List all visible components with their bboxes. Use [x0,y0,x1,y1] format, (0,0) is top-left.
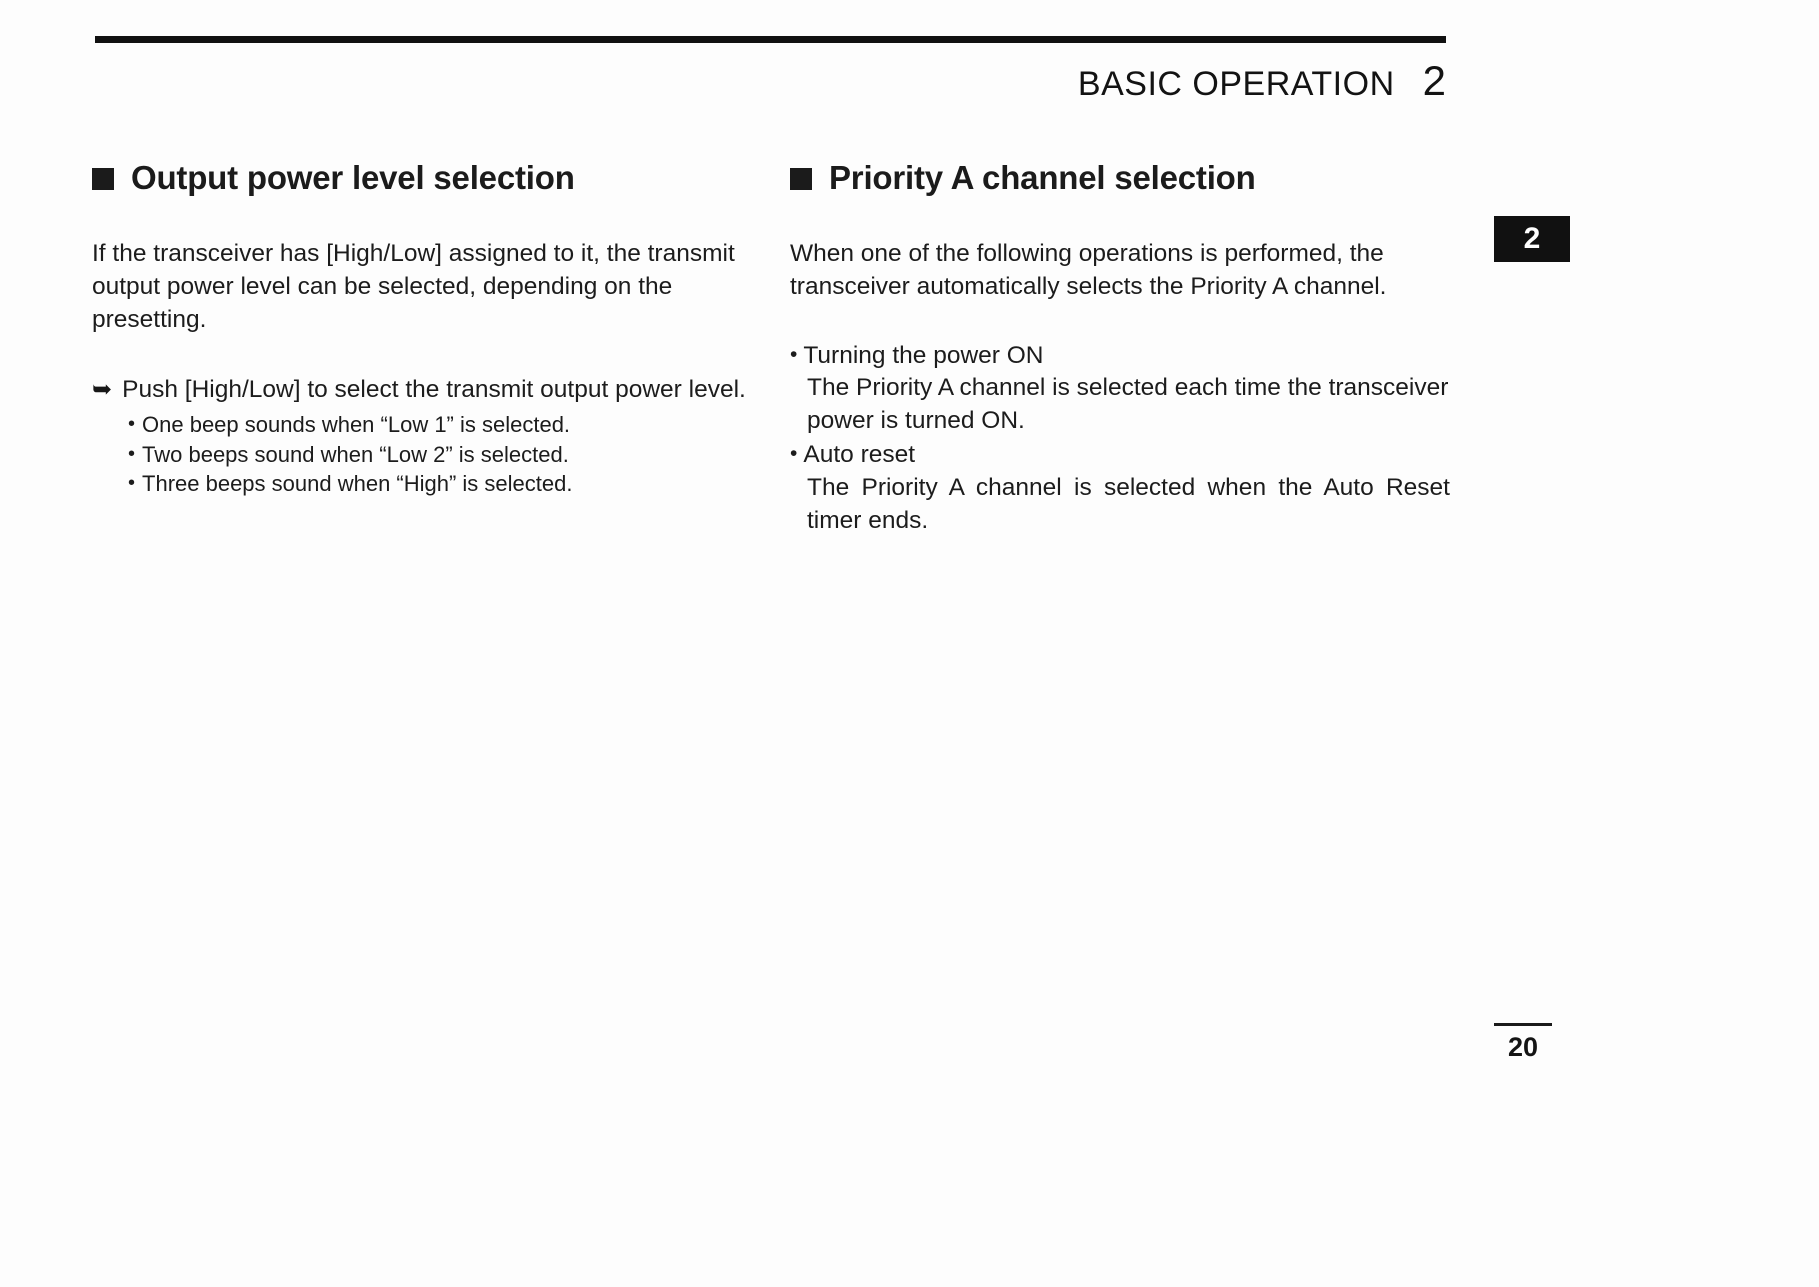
left-sub-bullet-list: • One beep sounds when “Low 1” is select… [92,410,752,498]
left-section-heading-text: Output power level selection [131,160,575,196]
bullet-icon: • [128,440,135,468]
header-chapter-number: 2 [1423,60,1446,102]
list-item: • Auto reset The Priority A channel is s… [790,439,1450,537]
list-item-text: One beep sounds when “Low 1” is selected… [142,410,570,439]
operation-title-row: • Turning the power ON [790,340,1450,373]
page-title: BASIC OPERATION [1078,65,1395,104]
operations-list: • Turning the power ON The Priority A ch… [790,340,1450,537]
bullet-icon: • [128,469,135,497]
left-column: Output power level selection If the tran… [92,160,752,498]
list-item-text: Three beeps sound when “High” is selecte… [142,469,572,498]
operation-description: The Priority A channel is selected when … [807,472,1450,537]
square-bullet-icon [92,168,114,190]
right-section-heading: Priority A channel selection [790,160,1450,196]
operation-description: The Priority A channel is selected each … [807,372,1450,437]
list-item: • One beep sounds when “Low 1” is select… [128,410,752,439]
list-item-text: Two beeps sound when “Low 2” is selected… [142,440,569,469]
list-item: • Two beeps sound when “Low 2” is select… [128,440,752,469]
list-item: • Turning the power ON The Priority A ch… [790,340,1450,438]
left-intro-paragraph: If the transceiver has [High/Low] assign… [92,238,752,336]
right-section-heading-text: Priority A channel selection [829,160,1256,196]
left-instruction-text: Push [High/Low] to select the transmit o… [122,374,746,406]
header-rule [95,36,1446,43]
right-intro-paragraph: When one of the following operations is … [790,238,1450,303]
arrow-right-icon: ➥ [92,374,112,405]
bullet-icon: • [128,410,135,438]
bullet-icon: • [790,439,797,469]
bullet-icon: • [790,340,797,370]
left-instruction-block: ➥ Push [High/Low] to select the transmit… [92,374,752,406]
page-header: BASIC OPERATION 2 [600,60,1446,104]
list-item: • Three beeps sound when “High” is selec… [128,469,752,498]
operation-title-row: • Auto reset [790,439,1450,472]
manual-page: BASIC OPERATION 2 2 Output power level s… [0,0,1819,1287]
page-number: 20 [1494,1032,1552,1063]
footer-rule [1494,1023,1552,1026]
operation-title: Auto reset [803,439,915,472]
right-column: Priority A channel selection When one of… [790,160,1450,539]
left-section-heading: Output power level selection [92,160,752,196]
chapter-tab-marker: 2 [1494,216,1570,262]
operation-title: Turning the power ON [803,340,1043,373]
square-bullet-icon [790,168,812,190]
